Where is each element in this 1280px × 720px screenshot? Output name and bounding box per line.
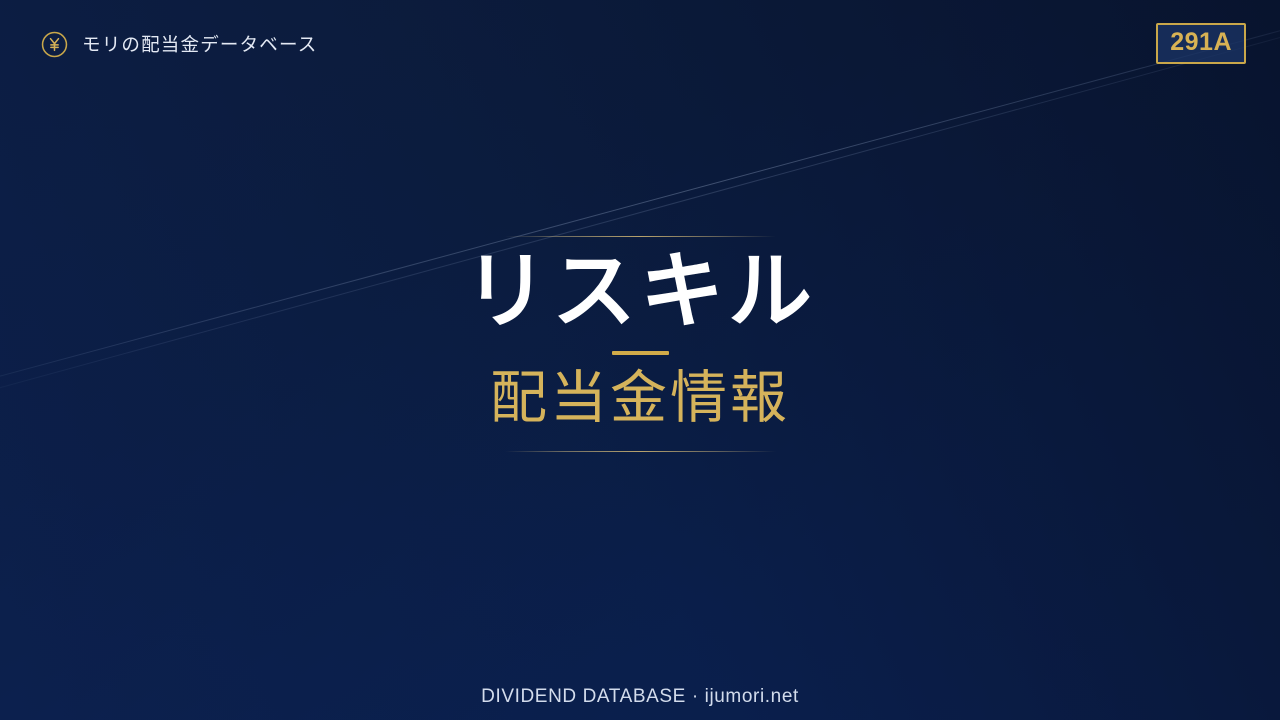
footer-caption: DIVIDEND DATABASE · ijumori.net	[481, 686, 799, 707]
hero-block: リスキル 配当金情報	[0, 236, 1280, 452]
ticker-code-badge: 291A	[1156, 23, 1246, 64]
brand-name: モリの配当金データベース	[82, 31, 317, 57]
page-subtitle: 配当金情報	[490, 369, 790, 429]
hero-gold-divider	[612, 351, 669, 355]
footer-bar: DIVIDEND DATABASE · ijumori.net	[0, 686, 1280, 708]
brand: モリの配当金データベース	[40, 30, 317, 59]
hero-rule-top	[505, 236, 776, 237]
yen-circle-icon	[40, 30, 69, 59]
hero-rule-bottom	[505, 451, 776, 452]
header-bar: モリの配当金データベース 291A	[0, 0, 1280, 88]
slide-canvas: モリの配当金データベース 291A リスキル 配当金情報 DIVIDEND DA…	[0, 0, 1280, 720]
page-title: リスキル	[464, 251, 816, 335]
